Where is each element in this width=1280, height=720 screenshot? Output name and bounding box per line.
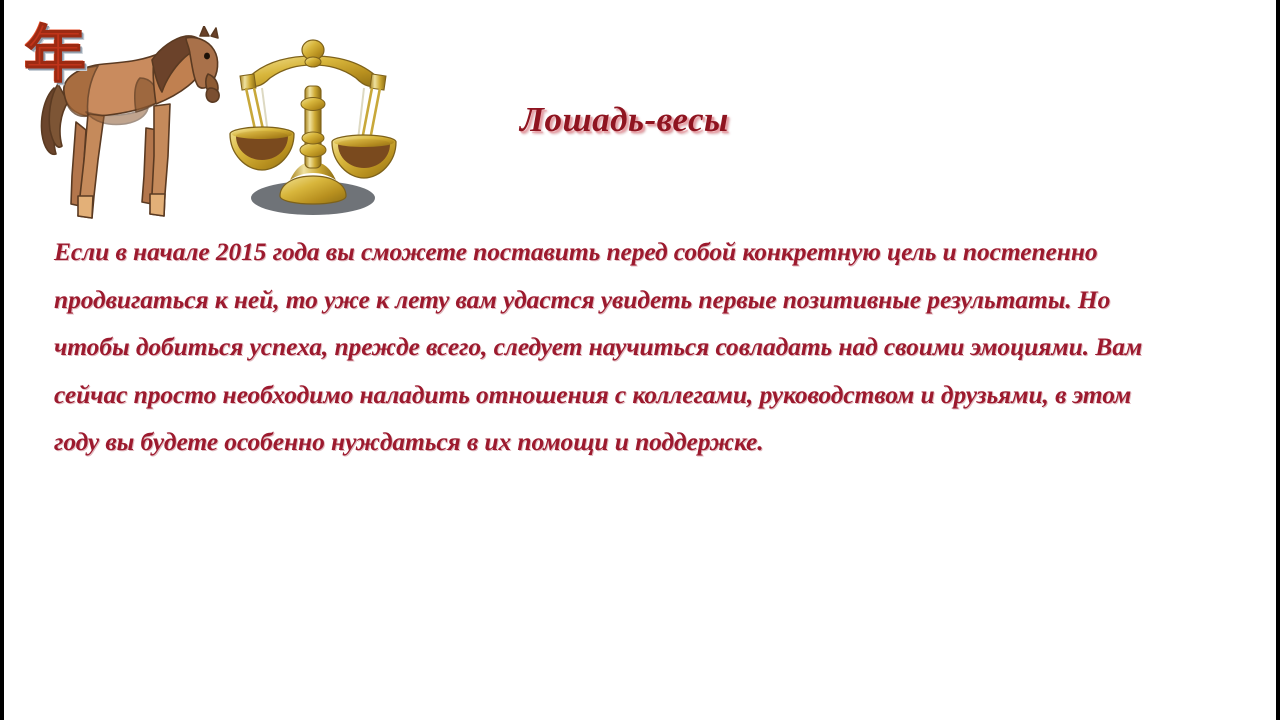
text-line: Если в начале 2015 года вы сможете поста… — [54, 228, 1244, 276]
text-line: продвигаться к ней, то уже к лету вам уд… — [54, 276, 1244, 324]
horoscope-text-block: Если в начале 2015 года вы сможете поста… — [54, 228, 1244, 466]
right-edge-rail — [1276, 0, 1280, 720]
text-line: году вы будете особенно нуждаться в их п… — [54, 418, 1244, 466]
page-title: Лошадь-весы — [520, 100, 729, 140]
text-line: чтобы добиться успеха, прежде всего, сле… — [54, 323, 1244, 371]
text-line: сейчас просто необходимо наладить отноше… — [54, 371, 1244, 419]
slide-canvas: 年 — [4, 0, 1276, 720]
chinese-year-character-icon: 年 — [22, 22, 88, 92]
libra-scales-illustration — [218, 30, 408, 220]
artwork-group: 年 — [12, 8, 432, 220]
